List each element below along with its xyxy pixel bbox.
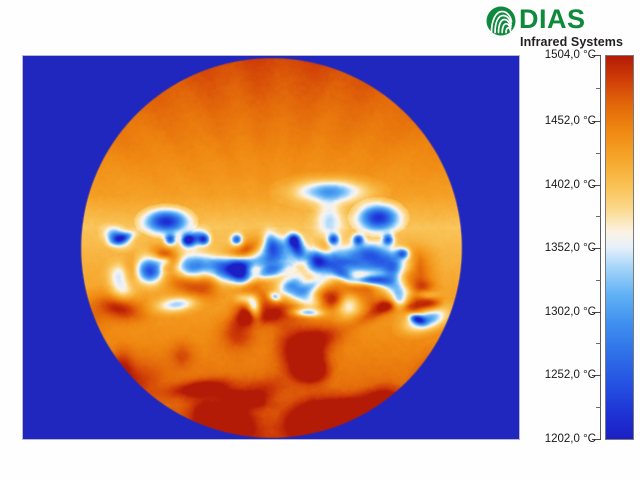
colorbar-label-0: 1504,0 °C (545, 49, 596, 61)
brand-header: DIAS Infrared Systems (486, 4, 638, 52)
colorbar-label-3: 1352,0 °C (545, 242, 596, 254)
infrared-furnace-view[interactable] (22, 55, 520, 440)
colorbar-label-2: 1402,0 °C (545, 179, 596, 191)
brand-tagline: Infrared Systems (520, 35, 623, 49)
colorbar-tick-minor (596, 280, 601, 281)
temperature-colorbar: 1504,0 °C1452,0 °C1402,0 °C1352,0 °C1302… (540, 55, 636, 440)
thermal-image-canvas[interactable] (23, 56, 519, 439)
colorbar-tick-minor (596, 343, 601, 344)
colorbar-label-6: 1202,0 °C (545, 433, 596, 445)
colorbar-tick-minor (596, 88, 601, 89)
dias-wave-logo-icon (486, 6, 516, 36)
colorbar-label-1: 1452,0 °C (545, 115, 596, 127)
colorbar-tick-minor (596, 407, 601, 408)
colorbar-gradient (605, 55, 634, 440)
colorbar-tick-minor (596, 216, 601, 217)
colorbar-label-5: 1252,0 °C (545, 369, 596, 381)
colorbar-tick-minor (596, 153, 601, 154)
colorbar-label-4: 1302,0 °C (545, 306, 596, 318)
brand-name: DIAS (519, 4, 586, 34)
